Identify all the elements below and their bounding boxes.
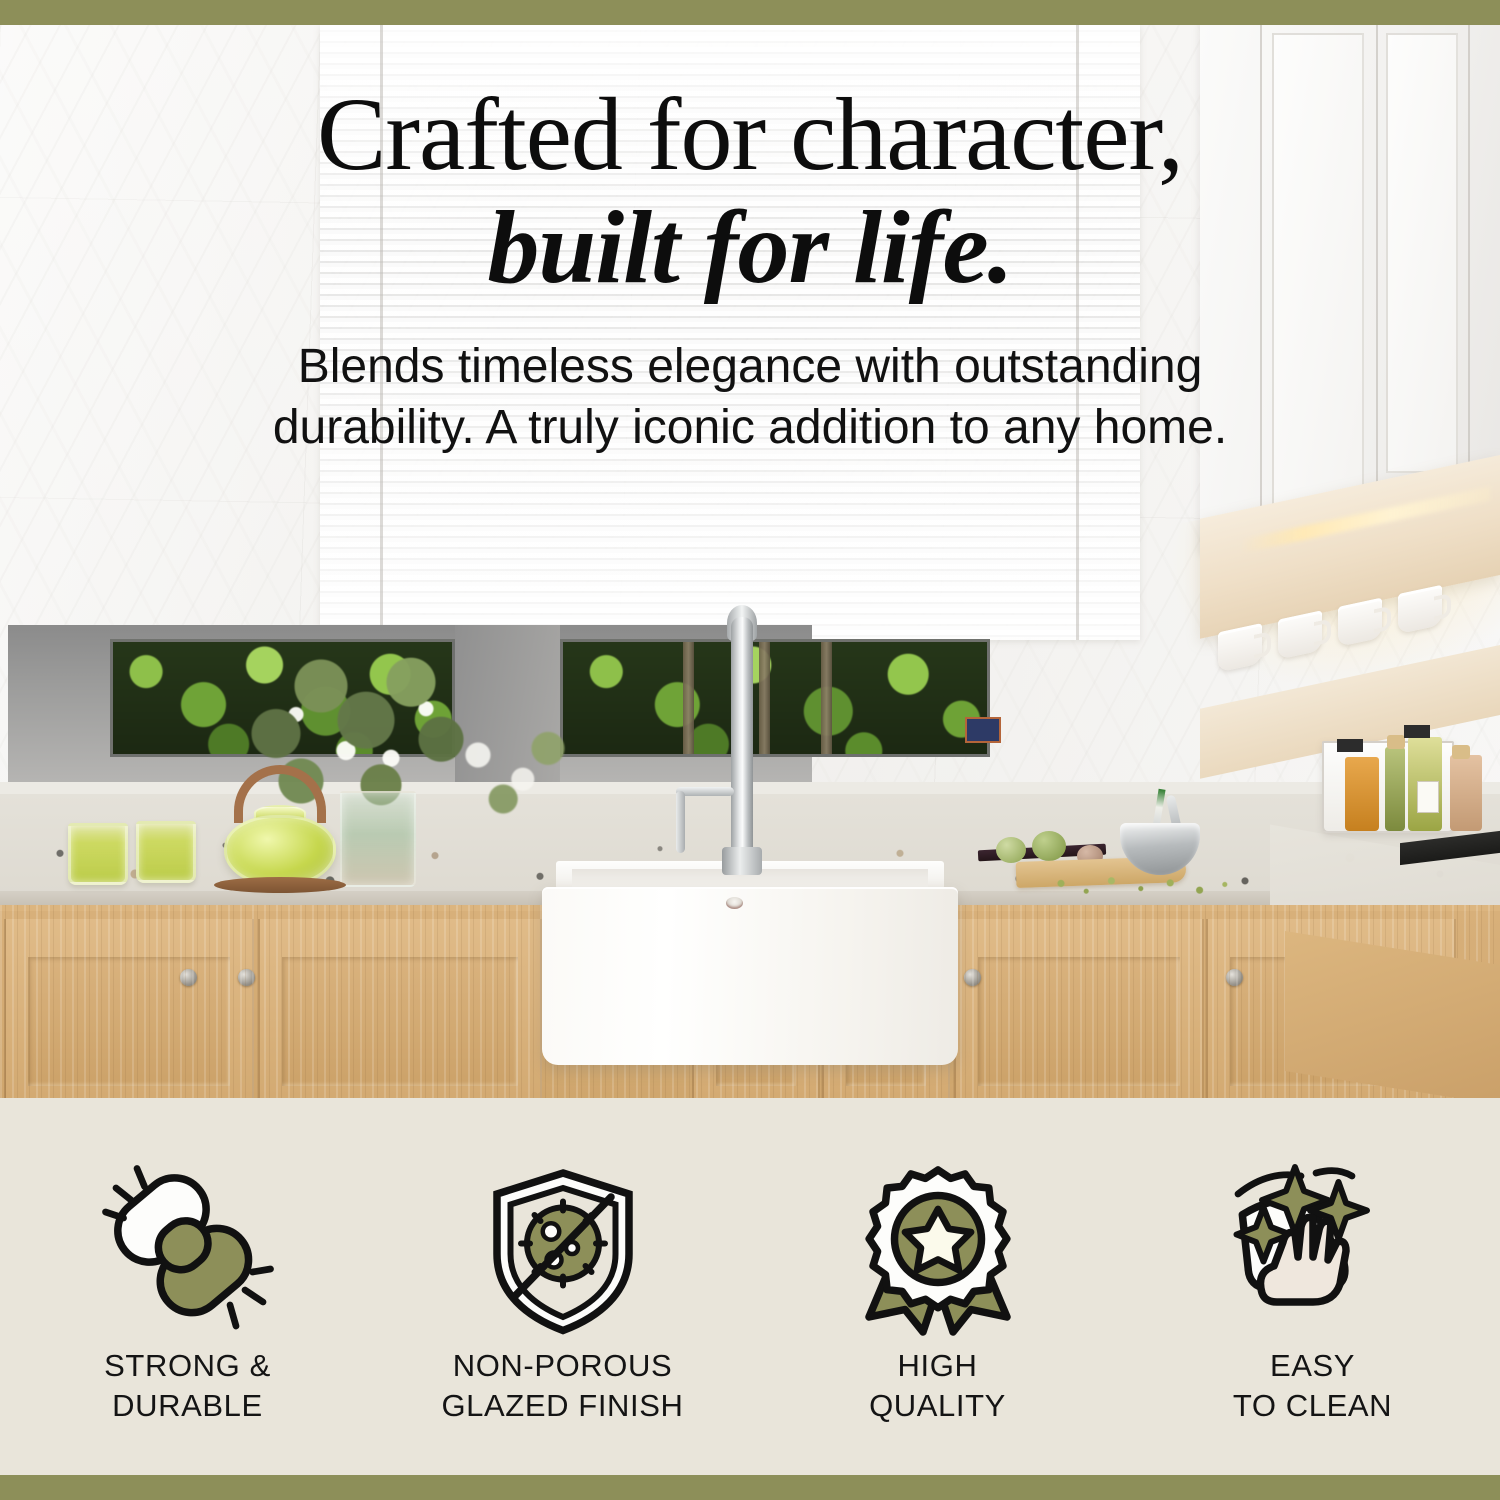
tea-glass-2 [136, 821, 196, 883]
glass-vase [340, 791, 416, 887]
bottom-frame-band [0, 1475, 1500, 1500]
hero-copy-block: Crafted for character, built for life. B… [0, 25, 1500, 459]
window-pane-right [560, 639, 990, 757]
faucet-handle [676, 787, 734, 796]
feature-item-high-quality: HIGH QUALITY [773, 1156, 1103, 1425]
feature-label-easy-to-clean: EASY TO CLEAN [1148, 1346, 1478, 1425]
product-feature-poster: Crafted for character, built for life. B… [0, 0, 1500, 1500]
feature-benefits-strip: STRONG & DURABLE [0, 1098, 1500, 1475]
feature-label-line-2: GLAZED FINISH [398, 1386, 728, 1426]
outdoor-foliage-right [560, 639, 990, 757]
faucet-base [722, 847, 762, 875]
headline-line-1: Crafted for character, [0, 83, 1500, 187]
bottle-tag-1 [1337, 739, 1363, 752]
hand-wiping-cloth-sparkle-icon [1148, 1156, 1478, 1346]
subheadline: Blends timeless elegance with outstandin… [0, 336, 1500, 459]
subheadline-line-1: Blends timeless elegance with outstandin… [0, 336, 1500, 397]
tea-glass-1 [68, 823, 128, 885]
feature-label-line-2: QUALITY [773, 1386, 1103, 1426]
brussels-sprout-2 [1032, 831, 1066, 861]
feature-label-high-quality: HIGH QUALITY [773, 1346, 1103, 1425]
feature-item-non-porous: NON-POROUS GLAZED FINISH [398, 1156, 728, 1425]
farmhouse-sink-apron [542, 887, 958, 1065]
cork-stopper-2 [1452, 745, 1470, 759]
top-frame-band [0, 0, 1500, 25]
feature-label-line-2: TO CLEAN [1148, 1386, 1478, 1426]
feature-label-strong-durable: STRONG & DURABLE [23, 1346, 353, 1425]
background-flowers [436, 711, 576, 821]
feature-item-easy-to-clean: EASY TO CLEAN [1148, 1156, 1478, 1425]
feature-label-non-porous: NON-POROUS GLAZED FINISH [398, 1346, 728, 1425]
feature-label-line-1: HIGH [773, 1346, 1103, 1386]
hero-kitchen-photo: Crafted for character, built for life. B… [0, 25, 1500, 1098]
outdoor-sign [965, 717, 1001, 743]
feature-item-strong-durable: STRONG & DURABLE [23, 1156, 353, 1425]
chopped-herbs [1040, 873, 1250, 899]
rose-bottle [1450, 755, 1482, 831]
headline-line-2: built for life. [0, 187, 1500, 310]
faucet-neck [731, 617, 753, 869]
feature-label-line-1: STRONG & [23, 1346, 353, 1386]
feature-label-line-1: EASY [1148, 1346, 1478, 1386]
cork-stopper-1 [1387, 735, 1405, 749]
teapot-wood-tray [214, 877, 346, 893]
subheadline-line-2: durability. A truly iconic addition to a… [0, 397, 1500, 458]
brussels-sprout-1 [996, 837, 1026, 863]
bottle-tag-2 [1404, 725, 1430, 738]
shield-germ-blocked-icon [398, 1156, 728, 1346]
amber-bottle [1345, 757, 1379, 831]
chain-link-icon [23, 1156, 353, 1346]
award-rosette-star-icon [773, 1156, 1103, 1346]
sink-overflow-hole [726, 897, 743, 909]
feature-label-line-1: NON-POROUS [398, 1346, 728, 1386]
feature-label-line-2: DURABLE [23, 1386, 353, 1426]
bottle-label [1417, 781, 1439, 813]
olive-oil-bottle-slim [1385, 747, 1405, 831]
